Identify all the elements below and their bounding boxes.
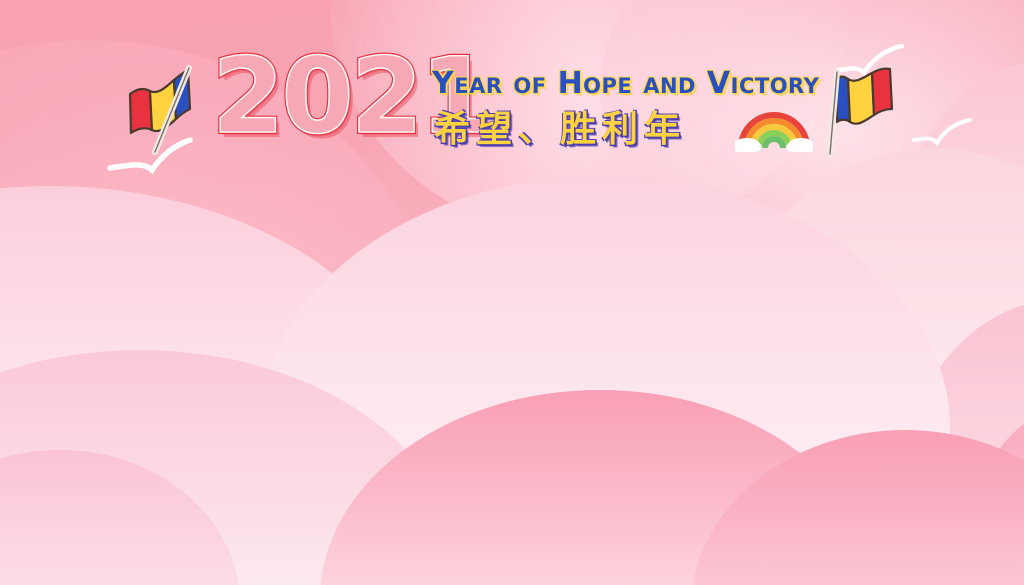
rainbow-icon: [735, 104, 813, 152]
poster-canvas: 2021 2021 Year of Hope and Victory 希望、胜利…: [0, 0, 1024, 585]
bird-right-lower-icon: [912, 118, 974, 148]
title-english: Year of Hope and Victory: [432, 66, 819, 101]
flag-left-icon: [122, 62, 200, 158]
title-chinese: 希望、胜利年: [434, 100, 686, 152]
flag-right-icon: [822, 60, 902, 160]
